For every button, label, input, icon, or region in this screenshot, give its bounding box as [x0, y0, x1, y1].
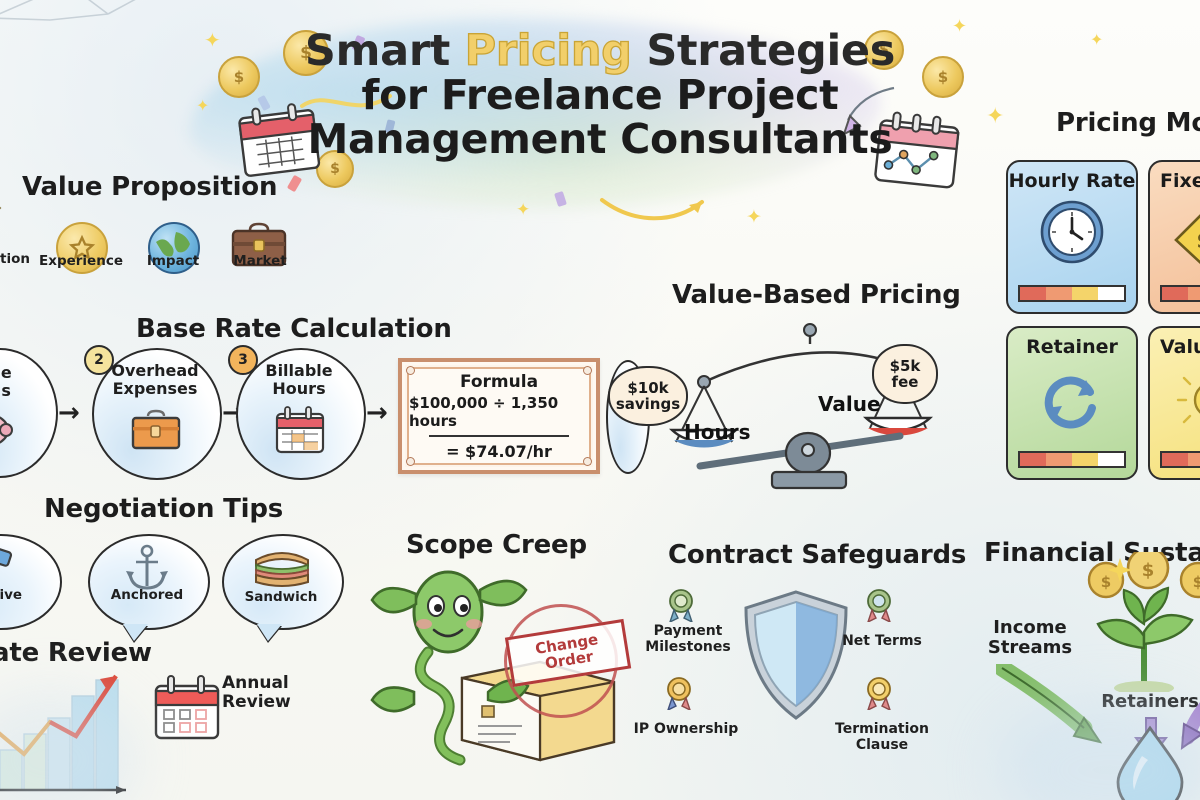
scale-label-hours: Hours — [684, 420, 750, 444]
coin-icon: $ — [218, 56, 260, 98]
swoosh-arrow-icon — [598, 190, 718, 230]
pricing-card-meter — [1160, 285, 1200, 302]
section-heading-value-proposition: Value Proposition — [22, 172, 277, 202]
pricing-card-label: Hourly Rate — [1008, 170, 1136, 192]
title-word-strategies: Strategies — [646, 26, 895, 76]
pricing-card-meter — [1018, 451, 1126, 468]
ribbon-badge-icon — [862, 588, 896, 622]
decorative-corner-lines — [0, 0, 200, 104]
sparkle-icon: ✦ — [204, 28, 221, 52]
contract-label-ip: IP Ownership — [630, 722, 742, 738]
title-line-2: for Freelance Project — [300, 74, 900, 118]
formula-title: Formula — [460, 372, 538, 392]
toolbox-icon — [127, 406, 185, 456]
step-badge-2: 2 — [84, 345, 114, 375]
pricing-card-meter — [1018, 285, 1126, 302]
svg-text:$: $ — [1193, 573, 1200, 591]
sparkle-icon: ✦ — [1090, 30, 1103, 49]
title-word-smart: Smart — [305, 26, 465, 76]
negotiation-label-1: Anchored — [90, 588, 204, 603]
value-prop-label-2: Impact — [130, 254, 216, 269]
page-title: Smart Pricing Strategies for Freelance P… — [300, 28, 900, 162]
handshake-icon — [0, 544, 16, 586]
negotiation-label-0: orative — [0, 588, 44, 603]
piggy-bank-icon — [0, 404, 20, 454]
base-rate-step-label-2: Overhead Expenses — [96, 362, 214, 398]
pricing-card-value-based[interactable]: Valu — [1148, 326, 1200, 480]
coin-icon: $ — [922, 56, 964, 98]
svg-text:$: $ — [1196, 229, 1200, 254]
section-heading-value-based: Value-Based Pricing — [672, 280, 961, 310]
pricing-card-meter — [1160, 451, 1200, 468]
svg-text:$: $ — [1142, 560, 1155, 581]
contract-label-net-terms: Net Terms — [832, 634, 932, 650]
formula-numerator: $100,000 ÷ 1,350 hours — [409, 394, 589, 430]
section-heading-negotiation: Negotiation Tips — [44, 494, 283, 524]
warning-sign-icon: $ — [1170, 204, 1200, 270]
infographic-canvas: Smart Pricing Strategies for Freelance P… — [0, 0, 1200, 800]
section-heading-scope-creep: Scope Creep — [406, 530, 587, 560]
calendar-icon — [150, 672, 228, 746]
callout-savings: $10k savings — [608, 366, 688, 426]
sparkle-icon: ✦ — [746, 206, 762, 228]
formula-plaque: Formula $100,000 ÷ 1,350 hours = $74.07/… — [398, 358, 600, 474]
base-rate-step-label-1: me als — [0, 364, 38, 400]
pricing-card-fixed-fee[interactable]: Fixe $ — [1148, 160, 1200, 314]
flow-arrow: → — [366, 398, 388, 428]
right-inflow-arrow-icon — [1178, 690, 1200, 760]
pricing-card-label: Fixe — [1160, 170, 1200, 192]
scale-label-value: Value — [818, 392, 881, 416]
contract-label-termination: Termination Clause — [828, 722, 936, 753]
ribbon-badge-icon — [662, 676, 696, 710]
base-rate-step-label-3: Billable Hours — [240, 362, 358, 398]
rising-arrow-chart-icon — [0, 650, 166, 800]
ribbon-badge-icon — [664, 588, 698, 622]
sandwich-icon — [252, 544, 312, 588]
value-prop-label-3: Market — [218, 254, 302, 269]
clock-icon — [1038, 198, 1106, 266]
value-prop-label-0: tion — [0, 252, 40, 267]
calendar-icon — [272, 404, 328, 456]
negotiation-label-2: Sandwich — [224, 590, 338, 605]
certification-icon — [0, 196, 32, 248]
title-word-pricing: Pricing — [465, 26, 647, 76]
pricing-card-hourly-rate[interactable]: Hourly Rate — [1006, 160, 1138, 314]
sparkle-icon: ✦ — [952, 16, 967, 37]
contract-label-payment: Payment Milestones — [640, 624, 736, 655]
financial-label-income-streams: Income Streams — [978, 618, 1082, 658]
lightbulb-icon — [1168, 370, 1200, 436]
pricing-card-retainer[interactable]: Retainer — [1006, 326, 1138, 480]
flow-arrow: → — [58, 398, 80, 428]
svg-text:$: $ — [1101, 573, 1111, 591]
formula-result: = $74.07/hr — [446, 442, 552, 461]
anchor-icon — [124, 544, 170, 592]
pricing-card-label: Valu — [1160, 336, 1200, 358]
section-heading-contract: Contract Safeguards — [668, 540, 966, 570]
sparkle-icon: ✦ — [516, 200, 530, 220]
pricing-card-label: Retainer — [1008, 336, 1136, 358]
title-line-3: Management Consultants — [300, 118, 900, 162]
shield-icon — [740, 588, 852, 724]
sparkle-icon: ✦ — [196, 96, 209, 115]
value-prop-label-1: Experience — [36, 254, 126, 269]
sparkle-icon: ✦ — [986, 104, 1004, 129]
rate-review-calendar-label: Annual Review — [222, 674, 308, 712]
refresh-cycle-icon — [1036, 366, 1108, 434]
section-heading-base-rate: Base Rate Calculation — [136, 314, 452, 344]
ribbon-badge-icon — [862, 676, 896, 710]
callout-fee: $5k fee — [872, 344, 938, 404]
section-heading-pricing-models: Pricing Mode — [1056, 108, 1200, 138]
step-badge-3: 3 — [228, 345, 258, 375]
